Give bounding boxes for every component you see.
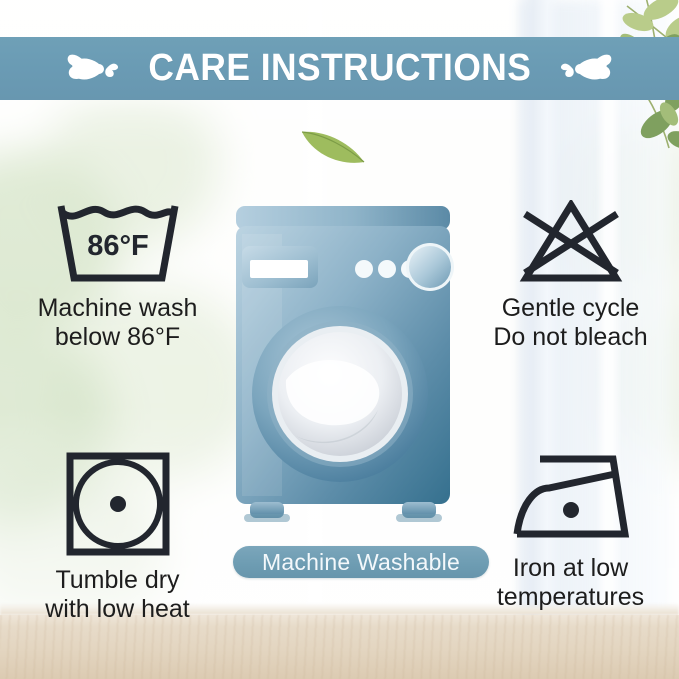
care-symbol-caption: Machine wash below 86°F [10, 294, 225, 352]
wood-grain-texture [0, 615, 679, 679]
care-instructions-infographic: CARE INSTRUCTIONS 86°F Machine wash belo… [0, 0, 679, 679]
iron-low-heat-icon [509, 452, 633, 544]
care-symbol-do-not-bleach: Gentle cycle Do not bleach [468, 200, 673, 352]
washer-feet [244, 502, 442, 522]
control-dial-knob [406, 243, 454, 291]
machine-washable-badge: Machine Washable [233, 546, 489, 578]
detergent-drawer [242, 246, 318, 288]
fleur-de-lis-icon [66, 47, 120, 91]
care-symbol-caption: Tumble dry with low heat [10, 566, 225, 624]
tumble-dry-low-icon [65, 452, 171, 556]
wash-tub-icon: 86°F [57, 200, 179, 284]
single-green-leaf [298, 122, 368, 168]
badge-label: Machine Washable [262, 549, 460, 576]
care-symbol-tumble-dry: Tumble dry with low heat [10, 452, 225, 624]
washer-door [252, 306, 428, 482]
triangle-crossed-do-not-bleach-icon [519, 200, 623, 284]
washing-machine-illustration [228, 204, 458, 534]
wooden-table-surface [0, 615, 679, 679]
care-symbol-caption: Gentle cycle Do not bleach [468, 294, 673, 352]
wash-temperature-value: 86°F [87, 230, 149, 262]
header-banner: CARE INSTRUCTIONS [0, 37, 679, 100]
fleur-de-lis-icon [559, 47, 613, 91]
page-title: CARE INSTRUCTIONS [148, 47, 531, 90]
care-symbol-caption: Iron at low temperatures [468, 554, 673, 612]
care-symbol-iron: Iron at low temperatures [468, 452, 673, 612]
care-symbol-machine-wash: 86°F Machine wash below 86°F [10, 200, 225, 352]
